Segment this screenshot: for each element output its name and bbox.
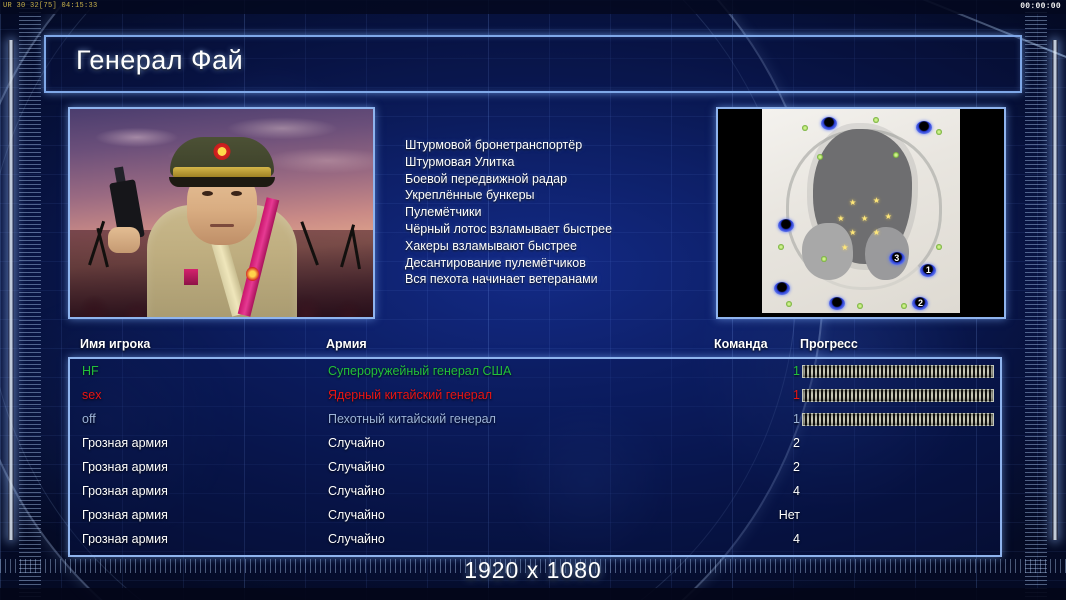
start-position-number: 2 xyxy=(912,297,928,310)
cell-army: Случайно xyxy=(328,479,385,503)
cell-team: 4 xyxy=(760,479,800,503)
progress-bar xyxy=(802,365,994,378)
resolution-label: 1920 x 1080 xyxy=(0,557,1066,584)
info-row: Штурмовой бронетранспортёр Штурмовая Ули… xyxy=(60,107,1006,319)
objective-star-icon: ★ xyxy=(849,199,856,207)
cell-player-name: Грозная армия xyxy=(82,431,168,455)
cell-player-name: HF xyxy=(82,359,99,383)
cell-player-name: Грозная армия xyxy=(82,455,168,479)
column-header-army: Армия xyxy=(326,337,367,351)
start-position-marker: 2 xyxy=(912,297,928,310)
start-position-marker xyxy=(778,219,794,232)
cell-army: Ядерный китайский генерал xyxy=(328,383,492,407)
ability-item: Укреплённые бункеры xyxy=(405,187,705,204)
supply-dock-icon xyxy=(893,152,899,158)
ability-item: Десантирование пулемётчиков xyxy=(405,255,705,272)
ability-item: Штурмовая Улитка xyxy=(405,154,705,171)
portrait-mouth xyxy=(210,224,234,227)
cap-badge-icon xyxy=(213,143,230,160)
debug-overlay-text: UR 30 32[75] 04:15:33 xyxy=(3,2,98,10)
objective-star-icon: ★ xyxy=(873,197,880,205)
cell-player-name: Грозная армия xyxy=(82,503,168,527)
session-timer: 00:00:00 xyxy=(1020,2,1061,11)
objective-star-icon: ★ xyxy=(841,244,848,252)
start-position-number: 1 xyxy=(920,264,936,277)
objective-star-icon: ★ xyxy=(873,229,880,237)
top-status-strip xyxy=(0,0,1066,14)
cell-team: Нет xyxy=(760,503,800,527)
start-position-marker xyxy=(916,121,932,134)
portrait-eye-left xyxy=(202,191,213,196)
supply-dock-icon xyxy=(936,129,942,135)
player-slot-table: HFСупероружейный генерал США1sexЯдерный … xyxy=(68,357,1002,557)
cell-player-name: Грозная армия xyxy=(82,479,168,503)
objective-star-icon: ★ xyxy=(861,215,868,223)
ruler-right xyxy=(1025,0,1047,600)
minimap-panel: ★★★★★★★★312 xyxy=(716,107,1006,319)
game-loading-screen: UR 30 32[75] 04:15:33 00:00:00 Генерал Ф… xyxy=(0,0,1066,600)
cell-army: Случайно xyxy=(328,455,385,479)
ability-item: Штурмовой бронетранспортёр xyxy=(405,137,705,154)
objective-star-icon: ★ xyxy=(885,213,892,221)
general-portrait xyxy=(68,107,375,319)
table-row[interactable]: Грозная армияСлучайно2 xyxy=(70,455,1000,479)
cell-army: Супероружейный генерал США xyxy=(328,359,511,383)
start-position-marker xyxy=(774,282,790,295)
cell-player-name: Грозная армия xyxy=(82,527,168,551)
cell-team: 2 xyxy=(760,455,800,479)
ability-item: Хакеры взламывают быстрее xyxy=(405,238,705,255)
cell-team: 2 xyxy=(760,431,800,455)
title-panel: Генерал Фай xyxy=(44,35,1022,93)
general-abilities-list: Штурмовой бронетранспортёр Штурмовая Ули… xyxy=(405,137,705,288)
cell-army: Пехотный китайский генерал xyxy=(328,407,496,431)
edge-glow-left xyxy=(8,40,14,540)
ability-item: Чёрный лотос взламывает быстрее xyxy=(405,221,705,238)
progress-bar xyxy=(802,413,994,426)
edge-glow-right xyxy=(1052,40,1058,540)
supply-dock-icon xyxy=(936,244,942,250)
start-position-marker xyxy=(829,297,845,310)
cell-army: Случайно xyxy=(328,503,385,527)
supply-dock-icon xyxy=(786,301,792,307)
cell-army: Случайно xyxy=(328,431,385,455)
content-frame: Генерал Фай xyxy=(44,35,1022,560)
table-row[interactable]: sexЯдерный китайский генерал1 xyxy=(70,383,1000,407)
cell-team: 1 xyxy=(760,407,800,431)
table-row[interactable]: HFСупероружейный генерал США1 xyxy=(70,359,1000,383)
cap-visor xyxy=(169,177,275,187)
column-header-team: Команда xyxy=(714,337,768,351)
start-position-marker: 1 xyxy=(920,264,936,277)
column-header-progress: Прогресс xyxy=(800,337,858,351)
bottom-strip xyxy=(0,588,1066,600)
progress-bar xyxy=(802,389,994,402)
start-position-number: 3 xyxy=(889,252,905,265)
column-header-player: Имя игрока xyxy=(80,337,150,351)
supply-dock-icon xyxy=(802,125,808,131)
table-row[interactable]: Грозная армияСлучайно4 xyxy=(70,527,1000,551)
table-row[interactable]: offПехотный китайский генерал1 xyxy=(70,407,1000,431)
ruler-left xyxy=(19,0,41,600)
cell-team: 1 xyxy=(760,383,800,407)
ability-item: Вся пехота начинает ветеранами xyxy=(405,271,705,288)
ability-item: Пулемётчики xyxy=(405,204,705,221)
table-header-row: Имя игрока Армия Команда Прогресс xyxy=(68,337,998,359)
page-title: Генерал Фай xyxy=(76,45,243,76)
star-medal-icon xyxy=(246,267,259,281)
objective-star-icon: ★ xyxy=(849,229,856,237)
cell-team: 1 xyxy=(760,359,800,383)
cell-player-name: off xyxy=(82,407,96,431)
supply-dock-icon xyxy=(873,117,879,123)
table-row[interactable]: Грозная армияСлучайноНет xyxy=(70,503,1000,527)
ability-item: Боевой передвижной радар xyxy=(405,171,705,188)
supply-dock-icon xyxy=(857,303,863,309)
supply-dock-icon xyxy=(901,303,907,309)
medal-icon xyxy=(184,269,198,285)
start-position-marker: 3 xyxy=(889,252,905,265)
table-row[interactable]: Грозная армияСлучайно2 xyxy=(70,431,1000,455)
supply-dock-icon xyxy=(778,244,784,250)
table-row[interactable]: Грозная армияСлучайно4 xyxy=(70,479,1000,503)
cell-player-name: sex xyxy=(82,383,101,407)
cell-team: 4 xyxy=(760,527,800,551)
cell-army: Случайно xyxy=(328,527,385,551)
objective-star-icon: ★ xyxy=(837,215,844,223)
portrait-eye-right xyxy=(231,191,242,196)
minimap-terrain: ★★★★★★★★312 xyxy=(762,109,960,313)
portrait-hand xyxy=(108,227,140,253)
start-position-marker xyxy=(821,117,837,130)
